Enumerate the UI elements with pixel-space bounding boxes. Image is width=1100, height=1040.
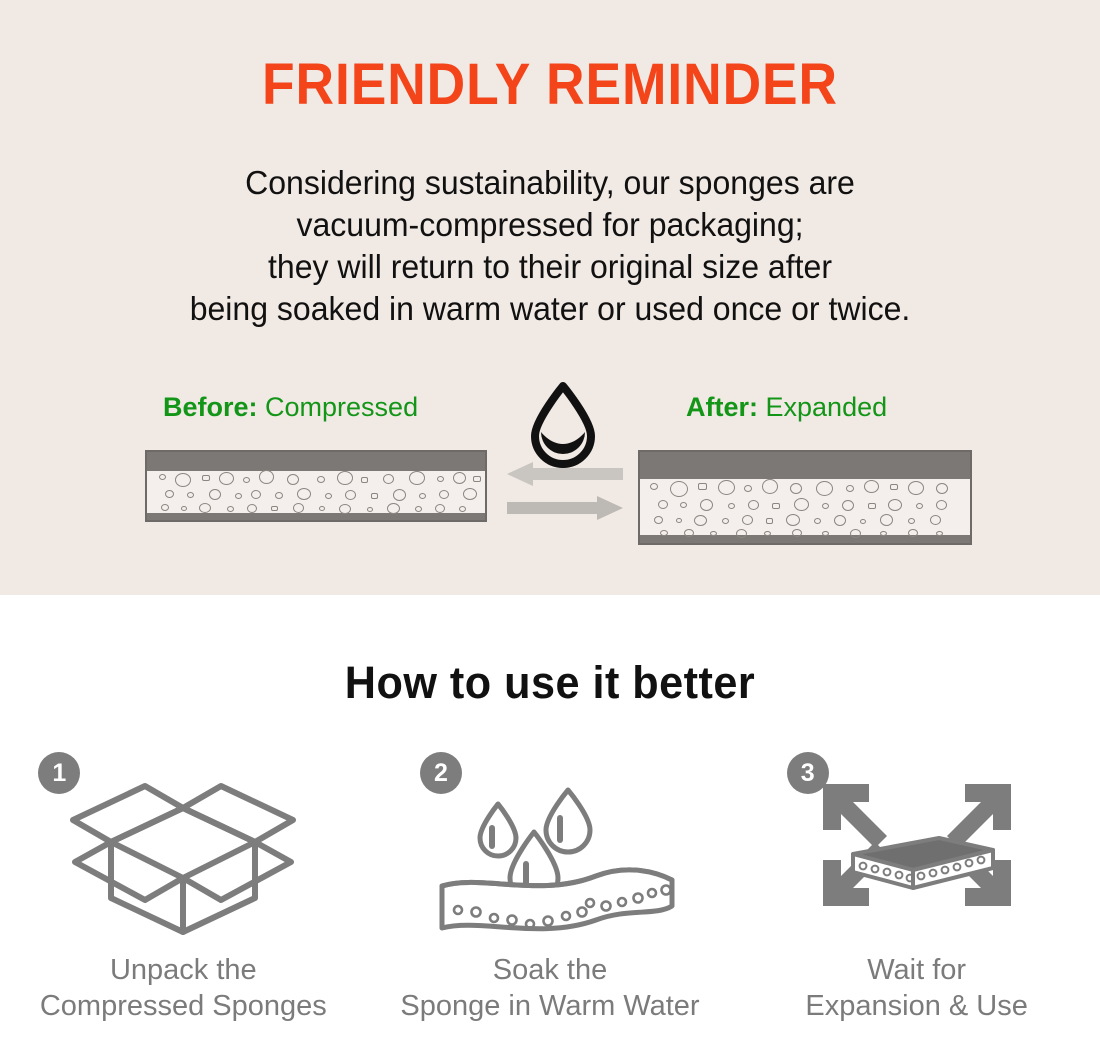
sponge-pore [435,504,445,513]
expand-arrows-sponge-icon [767,750,1067,940]
friendly-reminder-panel: FRIENDLY REMINDER Considering sustainabi… [0,0,1100,595]
sponge-pore [722,518,729,524]
sponge-pore [317,476,325,483]
step-figure-1: 1 [33,750,333,940]
sponge-pore [371,493,378,499]
sponge-pore [700,499,713,511]
after-label-prefix: After: [686,392,758,422]
sponge-pore [383,474,394,484]
sponge-pore [202,475,210,481]
sponge-pore [694,515,707,526]
sponge-pore [459,506,466,512]
sponge-pore [219,472,234,485]
step-item-1: 1 [0,750,367,1040]
howto-title: How to use it better [22,657,1078,709]
sponge-pore [850,529,861,538]
sponge-pore [367,507,373,512]
step-caption-1: Unpack the Compressed Sponges [40,952,327,1024]
reminder-body-line-2: vacuum-compressed for packaging; [17,204,1084,246]
sponge-pore [165,490,174,498]
sponge-pore [792,529,802,537]
step-item-3: 3 [733,750,1100,1040]
sponge-pore [393,489,406,501]
exchange-arrows-icon [505,462,625,520]
sponge-pore [794,498,809,511]
sponge-pore [437,476,444,482]
page-title: FRIENDLY REMINDER [44,56,1056,114]
sponge-pore [930,515,941,525]
sponge-pore [718,480,735,495]
sponge-pore [880,531,887,536]
sponge-pore [936,500,947,510]
sponge-pore [271,506,278,511]
sponge-pore [936,483,948,494]
sponge-pore [742,515,753,525]
step-figure-2: 2 [400,750,700,940]
sponge-pore [345,490,356,500]
sponge-pore [660,530,668,536]
after-label-state: Expanded [766,392,888,422]
sponge-pore [473,476,481,482]
sponge-pore [187,492,194,498]
sponge-pore [916,503,923,509]
sponge-pore [247,504,257,513]
sponge-pore [654,516,663,524]
sponge-pore [908,529,918,537]
sponge-pore [419,493,426,499]
sponge-pore [325,493,332,499]
sponge-pore [658,500,668,509]
sponge-pore [908,481,924,495]
sponge-pore [339,504,351,514]
sponge-pore [209,489,221,500]
sponge-pore [161,504,169,511]
sponge-pore [710,531,717,536]
sponge-pore [868,503,876,509]
after-label: After: Expanded [686,392,887,423]
sponge-pore [159,474,166,480]
sponge-pore [199,503,211,513]
sponge-pore [880,514,893,526]
step-figure-3: 3 [767,750,1067,940]
how-to-use-panel: How to use it better 1 [0,595,1100,1039]
sponge-pore [415,506,422,512]
sponge-pore [814,518,821,524]
sponge-pore [453,472,466,484]
sponge-pore [243,477,250,483]
transition-indicator-group [505,382,625,522]
step-caption-line-2: Compressed Sponges [40,988,327,1024]
step-caption-line-2: Sponge in Warm Water [400,988,699,1024]
sponge-pore [361,477,368,483]
sponge-pore [227,506,234,512]
sponge-pore [728,503,735,509]
sponge-pore [251,490,261,499]
reminder-body-text: Considering sustainability, our sponges … [17,162,1084,330]
step-caption-3: Wait for Expansion & Use [805,952,1027,1024]
before-label: Before: Compressed [163,392,418,423]
sponge-pore [890,484,898,490]
sponge-pore [860,519,866,524]
sponge-pore [670,481,688,497]
sponge-pore [786,514,800,526]
open-box-icon [33,750,333,940]
step-caption-line-1: Soak the [400,952,699,988]
sponge-pore [816,481,833,496]
before-after-comparison: Before: Compressed After: Expanded [0,392,1100,582]
sponge-pore [409,471,425,485]
sponge-pore [275,492,283,499]
sponge-pore [762,479,778,494]
sponge-pore [846,485,854,492]
sponge-pore [698,483,707,490]
sponge-pore [387,503,400,514]
sponge-pore [822,531,829,536]
water-drops-sponge-icon [400,750,700,940]
sponge-pore [297,488,311,500]
sponge-pore [744,485,752,492]
sponge-pore [259,470,274,484]
sponge-pore [764,531,771,536]
sponge-pore [319,506,325,511]
sponge-pore [684,529,694,537]
sponge-pore [936,531,943,536]
sponge-pore [676,518,682,523]
sponge-pore [834,515,846,526]
sponge-pore [842,500,854,511]
sponge-pore [175,473,191,487]
sponge-pore [181,506,187,511]
sponge-pore [772,503,780,509]
step-caption-line-2: Expansion & Use [805,988,1027,1024]
sponge-pore [748,500,759,510]
reminder-body-line-3: they will return to their original size … [17,246,1084,288]
sponge-pore [888,499,902,511]
sponge-pore [337,471,353,485]
sponge-pore [790,483,802,494]
step-item-2: 2 [367,750,734,1040]
step-caption-line-1: Unpack the [40,952,327,988]
sponge-pore [439,490,449,499]
sponge-top-crust [640,452,970,479]
sponge-pore [766,518,773,524]
sponge-pore [736,529,747,538]
step-caption-line-1: Wait for [805,952,1027,988]
reminder-body-line-4: being soaked in warm water or used once … [17,288,1084,330]
sponge-pore [287,474,299,485]
reminder-body-line-1: Considering sustainability, our sponges … [17,162,1084,204]
expanded-sponge-graphic [638,450,972,545]
sponge-pore [235,493,242,499]
sponge-pore [908,518,915,524]
sponge-pore [680,502,687,508]
sponge-top-crust [147,452,485,471]
sponge-pore [864,480,879,493]
before-label-prefix: Before: [163,392,258,422]
sponge-pore [463,488,477,500]
compressed-sponge-graphic [145,450,487,522]
sponge-bottom-crust [147,513,485,520]
water-drop-icon [527,382,599,468]
sponge-pore [293,503,304,513]
step-caption-2: Soak the Sponge in Warm Water [400,952,699,1024]
sponge-pore [822,503,829,509]
before-label-state: Compressed [265,392,418,422]
steps-row: 1 [0,750,1100,1040]
sponge-pore [650,483,658,490]
